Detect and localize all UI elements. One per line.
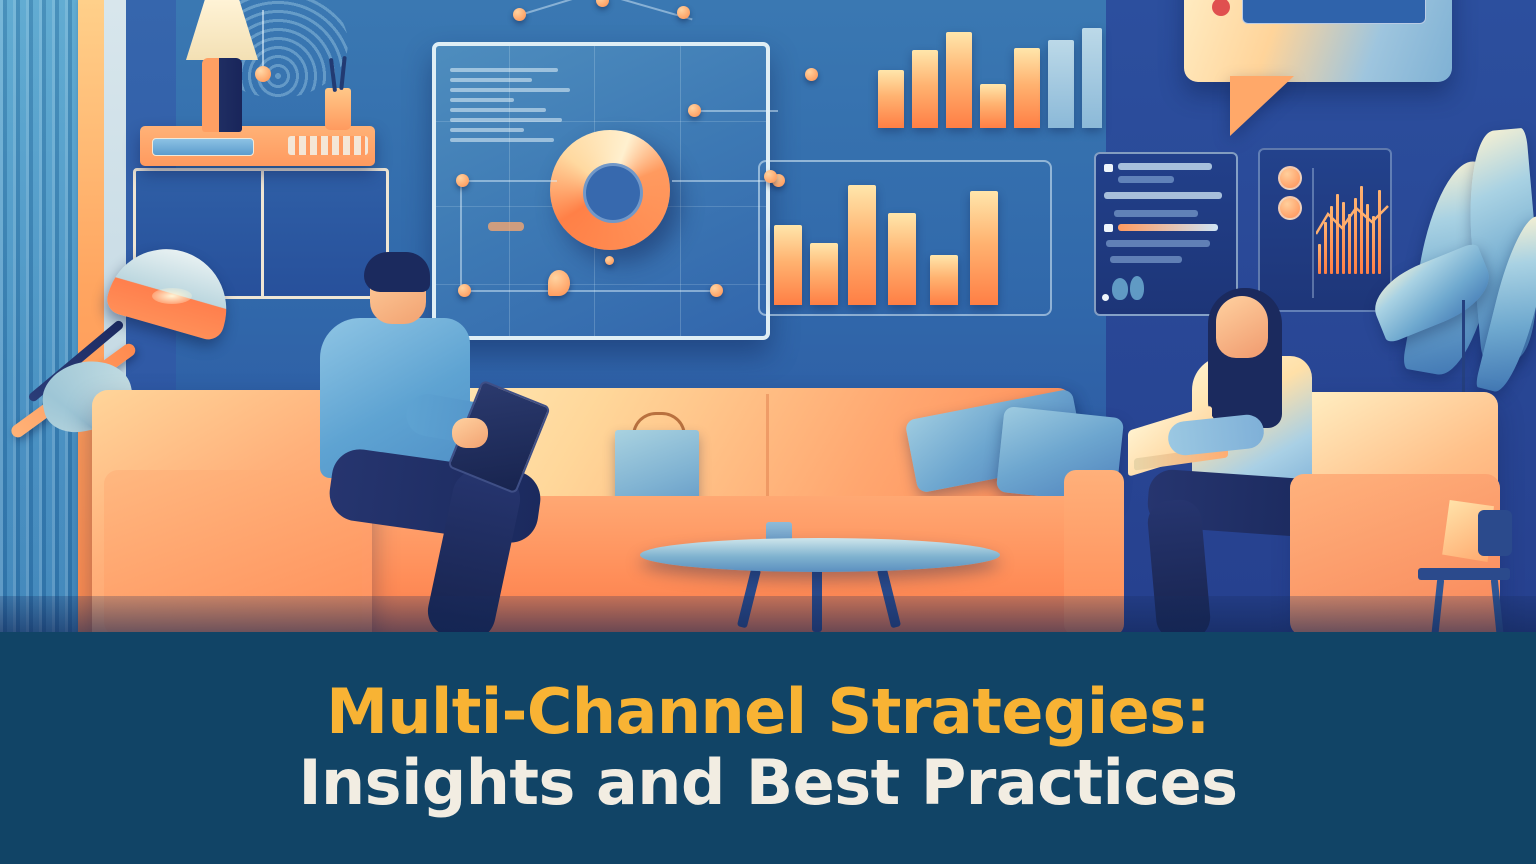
status-dot (1102, 294, 1109, 301)
network-node (513, 8, 526, 21)
leaf-blob-icon (1112, 278, 1128, 300)
network-node (710, 284, 723, 297)
shelf-books (288, 136, 368, 155)
network-node (677, 6, 690, 19)
lounge-illustration (0, 0, 1536, 636)
speech-bubble-tail (1230, 76, 1294, 136)
man-hand (452, 418, 488, 448)
network-edge (466, 290, 716, 292)
record-dot-icon (1212, 0, 1230, 16)
banner-graphic: Multi-Channel Strategies: Insights and B… (0, 0, 1536, 864)
woman-head (1216, 296, 1268, 358)
list-item (1114, 210, 1198, 217)
list-item (1118, 224, 1218, 231)
list-item (1118, 176, 1174, 183)
bar (774, 225, 802, 305)
speech-bubble (1184, 0, 1452, 82)
location-pin-icon (548, 270, 570, 296)
network-node (605, 256, 614, 265)
pen-cup (325, 88, 351, 130)
man-hair (364, 252, 430, 292)
bar-chart-mid (770, 175, 1035, 305)
bar (980, 84, 1006, 128)
side-table-lamp-base (1478, 510, 1512, 556)
network-node (764, 170, 777, 183)
network-edge (460, 182, 462, 292)
analytics-panel (1258, 148, 1392, 312)
bar (1014, 48, 1040, 128)
pendant-cord (262, 10, 264, 68)
network-node (688, 104, 701, 117)
donut-chart (550, 130, 670, 250)
desk-lamp-glow (152, 288, 192, 304)
title-line-2: Insights and Best Practices (298, 750, 1237, 817)
list-item (1104, 192, 1222, 199)
list-item (1118, 163, 1212, 170)
table-lamp-base (202, 58, 242, 132)
list-item (1106, 240, 1210, 247)
avatar (1278, 196, 1302, 220)
network-edge (688, 110, 778, 112)
title-line-1: Multi-Channel Strategies: (326, 679, 1210, 746)
bar (1082, 28, 1102, 128)
bar (912, 50, 938, 128)
bar (1048, 40, 1074, 128)
list-item (1110, 256, 1182, 263)
avatar-square (1104, 164, 1113, 172)
network-edge (462, 180, 557, 182)
trend-line-icon (1316, 204, 1390, 244)
bar (878, 70, 904, 128)
bar (930, 255, 958, 305)
shelf-drawer (152, 138, 254, 156)
bar (888, 213, 916, 305)
bar-chart-top (872, 8, 1122, 128)
bar (848, 185, 876, 305)
floor-shadow (0, 596, 1536, 636)
network-node (805, 68, 818, 81)
coffee-table (640, 538, 1000, 572)
pendant-bulb-icon (255, 66, 271, 82)
bar (946, 32, 972, 128)
side-table (1418, 568, 1510, 580)
avatar (1278, 166, 1302, 190)
chat-list-panel (1094, 152, 1238, 316)
bar (970, 191, 998, 305)
avatar-square (1104, 224, 1113, 232)
bar (810, 243, 838, 305)
title-banner: Multi-Channel Strategies: Insights and B… (0, 632, 1536, 864)
network-node (456, 174, 469, 187)
network-node (458, 284, 471, 297)
leaf-blob-icon (1130, 276, 1144, 300)
